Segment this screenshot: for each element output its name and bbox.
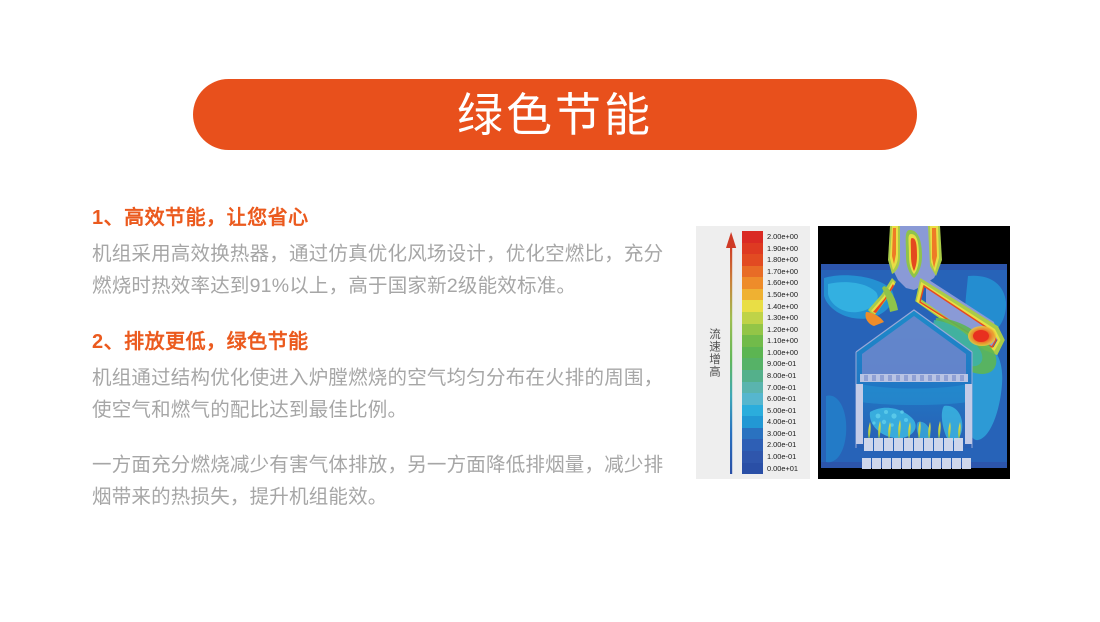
legend-value-label: 1.50e+00 [763, 291, 798, 298]
legend-entry: 7.00e-01 [742, 382, 806, 394]
legend-color-swatch [742, 231, 763, 243]
up-arrow-icon [725, 231, 737, 474]
legend-value-label: 1.30e+00 [763, 314, 798, 321]
legend-entry: 1.60e+00 [742, 277, 806, 289]
legend-color-swatch [742, 370, 763, 382]
legend-value-label: 1.10e+00 [763, 337, 798, 344]
legend-color-swatch [742, 300, 763, 312]
velocity-legend-scale: 2.00e+001.90e+001.80e+001.70e+001.60e+00… [742, 231, 806, 474]
legend-entry: 1.00e-01 [742, 451, 806, 463]
legend-value-label: 8.00e-01 [763, 372, 796, 379]
feature-section-3-body: 一方面充分燃烧减少有害气体排放，另一方面降低排烟量，减少排烟带来的热损失，提升机… [92, 450, 677, 513]
legend-value-label: 1.20e+00 [763, 326, 798, 333]
feature-section-2-heading: 2、排放更低，绿色节能 [92, 328, 677, 357]
legend-value-label: 9.00e-01 [763, 360, 796, 367]
legend-value-label: 2.00e-01 [763, 441, 796, 448]
legend-color-swatch [742, 243, 763, 255]
legend-value-label: 0.00e+01 [763, 465, 798, 472]
legend-color-swatch [742, 266, 763, 278]
legend-color-swatch [742, 289, 763, 301]
legend-value-label: 1.40e+00 [763, 303, 798, 310]
legend-color-swatch [742, 393, 763, 405]
feature-section-3: 一方面充分燃烧减少有害气体排放，另一方面降低排烟量，减少排烟带来的热损失，提升机… [92, 450, 677, 513]
legend-value-label: 4.00e-01 [763, 418, 796, 425]
legend-entry: 8.00e-01 [742, 370, 806, 382]
legend-color-swatch [742, 324, 763, 336]
legend-color-swatch [742, 463, 763, 475]
content-column: 1、高效节能，让您省心 机组采用高效换热器，通过仿真优化风场设计，优化空燃比，充… [92, 204, 677, 513]
legend-entry: 1.70e+00 [742, 266, 806, 278]
legend-entry: 0.00e+01 [742, 463, 806, 475]
legend-color-swatch [742, 439, 763, 451]
legend-entry: 9.00e-01 [742, 358, 806, 370]
legend-entry: 6.00e-01 [742, 393, 806, 405]
legend-entry: 1.20e+00 [742, 324, 806, 336]
legend-color-swatch [742, 254, 763, 266]
legend-entry: 1.10e+00 [742, 335, 806, 347]
legend-entry: 4.00e-01 [742, 416, 806, 428]
legend-value-label: 1.80e+00 [763, 256, 798, 263]
legend-value-label: 2.00e+00 [763, 233, 798, 240]
legend-entry: 1.30e+00 [742, 312, 806, 324]
feature-section-1-heading: 1、高效节能，让您省心 [92, 204, 677, 233]
legend-color-swatch [742, 428, 763, 440]
legend-entry: 5.00e-01 [742, 405, 806, 417]
legend-value-label: 1.00e-01 [763, 453, 796, 460]
legend-value-label: 1.60e+00 [763, 279, 798, 286]
legend-entry: 1.50e+00 [742, 289, 806, 301]
cfd-velocity-contour [818, 226, 1010, 479]
legend-color-swatch [742, 277, 763, 289]
legend-entry: 1.40e+00 [742, 300, 806, 312]
legend-value-label: 1.00e+00 [763, 349, 798, 356]
feature-section-1: 1、高效节能，让您省心 机组采用高效换热器，通过仿真优化风场设计，优化空燃比，充… [92, 204, 677, 302]
page-title-banner: 绿色节能 [193, 79, 917, 150]
legend-value-label: 5.00e-01 [763, 407, 796, 414]
legend-value-label: 7.00e-01 [763, 384, 796, 391]
legend-entry: 2.00e-01 [742, 439, 806, 451]
legend-color-swatch [742, 416, 763, 428]
legend-color-swatch [742, 358, 763, 370]
feature-section-2-body: 机组通过结构优化使进入炉膛燃烧的空气均匀分布在火排的周围，使空气和燃气的配比达到… [92, 363, 677, 426]
cfd-figure: 流速增高 2.00e+001.90e+001.80e+001.70e+001.6… [696, 226, 1010, 479]
legend-color-swatch [742, 382, 763, 394]
legend-color-swatch [742, 335, 763, 347]
legend-entry: 1.90e+00 [742, 243, 806, 255]
legend-value-label: 3.00e-01 [763, 430, 796, 437]
legend-entry: 2.00e+00 [742, 231, 806, 243]
legend-value-label: 6.00e-01 [763, 395, 796, 402]
velocity-legend-panel: 流速增高 2.00e+001.90e+001.80e+001.70e+001.6… [696, 226, 810, 479]
legend-entry: 1.00e+00 [742, 347, 806, 359]
feature-section-1-body: 机组采用高效换热器，通过仿真优化风场设计，优化空燃比，充分燃烧时热效率达到91%… [92, 239, 677, 302]
legend-color-swatch [742, 451, 763, 463]
legend-axis-label: 流速增高 [702, 328, 720, 378]
page-title: 绿色节能 [457, 92, 653, 138]
legend-color-swatch [742, 312, 763, 324]
legend-value-label: 1.90e+00 [763, 245, 798, 252]
legend-entry: 3.00e-01 [742, 428, 806, 440]
legend-entry: 1.80e+00 [742, 254, 806, 266]
legend-color-swatch [742, 405, 763, 417]
legend-color-swatch [742, 347, 763, 359]
legend-value-label: 1.70e+00 [763, 268, 798, 275]
feature-section-2: 2、排放更低，绿色节能 机组通过结构优化使进入炉膛燃烧的空气均匀分布在火排的周围… [92, 328, 677, 426]
